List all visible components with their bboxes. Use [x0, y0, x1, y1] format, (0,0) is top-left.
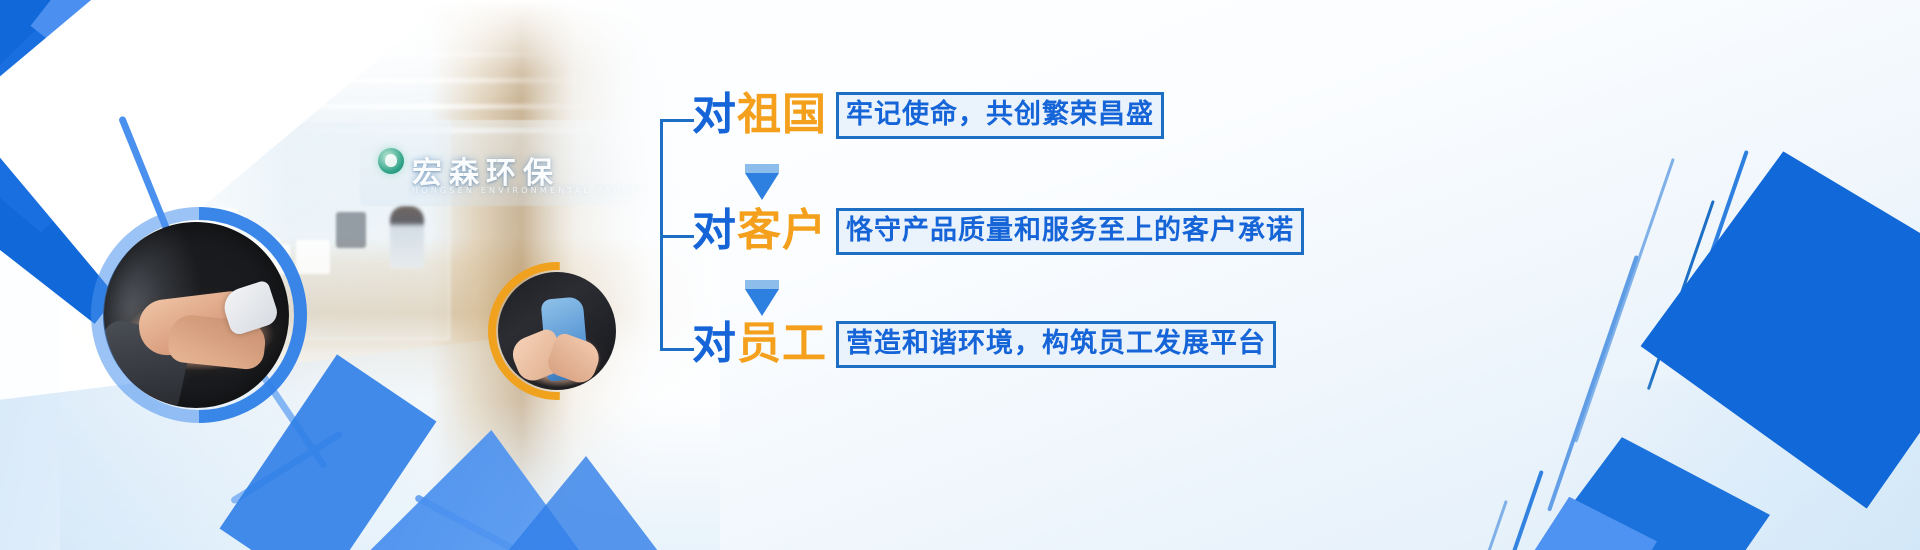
value-subject: 员工 — [737, 318, 827, 369]
receptionist-figure — [390, 206, 424, 268]
value-row-nation: 对祖国 牢记使命，共创繁荣昌盛 — [692, 92, 1164, 139]
value-row-employee: 对员工 营造和谐环境，构筑员工发展平台 — [692, 321, 1276, 368]
value-prefix: 对 — [692, 89, 737, 140]
value-row-nation-title: 对祖国 — [692, 93, 827, 137]
value-row-customer-statement: 恪守产品质量和服务至上的客户承诺 — [836, 208, 1304, 255]
value-prefix: 对 — [692, 318, 737, 369]
value-subject: 祖国 — [737, 89, 827, 140]
globe-leaf-logo-icon — [378, 148, 404, 174]
reception-monitor — [336, 212, 366, 248]
value-row-employee-title: 对员工 — [692, 322, 827, 366]
bracket-stub-3 — [660, 348, 694, 351]
bracket-stub-2 — [660, 235, 694, 238]
value-row-customer: 对客户 恪守产品质量和服务至上的客户承诺 — [692, 208, 1304, 255]
value-subject: 客户 — [737, 205, 827, 256]
value-row-customer-title: 对客户 — [692, 209, 827, 253]
value-row-nation-statement: 牢记使命，共创繁荣昌盛 — [836, 92, 1164, 139]
corporate-values-banner: 宏森环保 HONGSEN ENVIRONMENTAL PROTECTION — [0, 0, 1920, 550]
bracket-stub-1 — [660, 119, 694, 122]
shelf-unit — [296, 240, 330, 274]
value-prefix: 对 — [692, 205, 737, 256]
value-row-employee-statement: 营造和谐环境，构筑员工发展平台 — [836, 321, 1276, 368]
